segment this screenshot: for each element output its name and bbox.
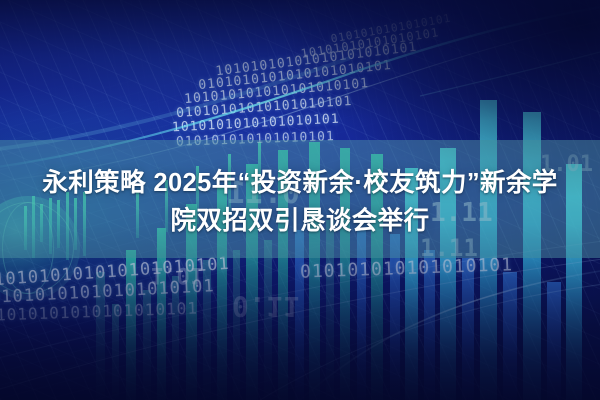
binary-row: 0101010101010101010101 [198,58,393,93]
decorative-number: 0.11 [232,290,299,323]
binary-row: 1010101010101010101 [172,112,340,136]
binary-row: 01010101010101010101 [176,94,353,121]
title-line-2: 院双招双引恳谈会举行 [0,202,600,240]
binary-row: 010101010101010101 [300,254,514,282]
decorative-number: 1.01 [150,262,203,287]
banner-title: 永利策略 2025年“投资新余·校友筑力”新余学 院双招双引恳谈会举行 [0,164,600,240]
title-line-1: 永利策略 2025年“投资新余·校友筑力”新余学 [0,164,600,202]
binary-row: 0101010101010101 [330,12,452,46]
binary-row: 10101010101010101010101 [215,40,418,80]
binary-row: 10101010101010101 [300,25,440,61]
binary-row: 1010101010101010101 [0,298,198,324]
binary-row: 101010101010101010101 [184,76,370,107]
news-banner: 10101010101010101010101 0101010101010101… [0,0,600,400]
